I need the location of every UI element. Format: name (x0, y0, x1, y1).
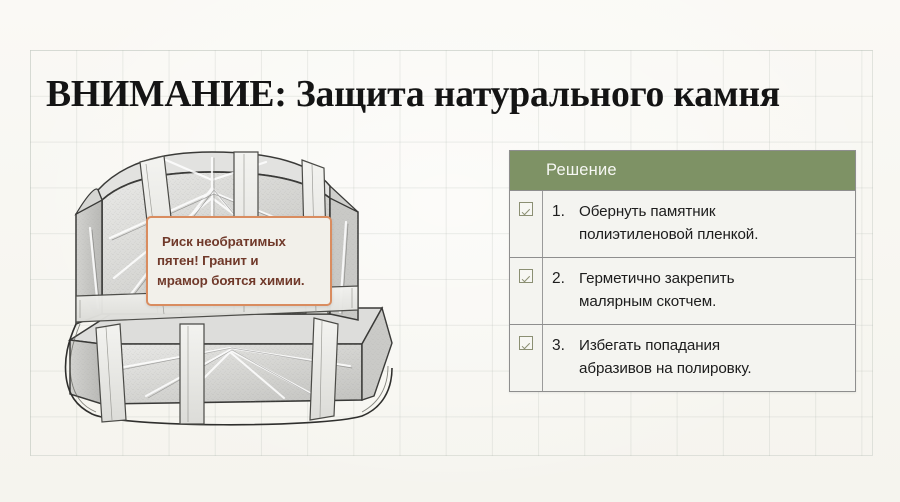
row-line-1: Герметично закрепить (579, 268, 734, 291)
checkbox-cell[interactable] (510, 191, 543, 257)
table-row[interactable]: 1. Обернуть памятник полиэтиленовой плен… (510, 191, 855, 258)
row-text: Герметично закрепить малярным скотчем. (579, 268, 734, 314)
warning-callout-text: Риск необратимых пятен! Гранит и мрамор … (148, 232, 330, 291)
slide-canvas: ВНИМАНИЕ: Защита натурального камня (0, 0, 900, 502)
checked-checkbox-icon[interactable] (519, 336, 533, 350)
table-text-cell: 3. Избегать попадания абразивов на полир… (543, 325, 855, 391)
solution-table: Решение 1. Обернуть памятник полиэтилено… (509, 150, 856, 392)
row-line-2: полиэтиленовой пленкой. (579, 224, 758, 247)
warning-callout: Риск необратимых пятен! Гранит и мрамор … (146, 216, 332, 306)
table-row[interactable]: 2. Герметично закрепить малярным скотчем… (510, 258, 855, 325)
table-header-label: Решение (546, 161, 617, 180)
table-row[interactable]: 3. Избегать попадания абразивов на полир… (510, 325, 855, 391)
row-text: Избегать попадания абразивов на полировк… (579, 335, 751, 381)
page-title: ВНИМАНИЕ: Защита натурального камня (46, 72, 780, 116)
callout-line-2: пятен! Гранит и (157, 251, 321, 271)
checkbox-cell[interactable] (510, 325, 543, 391)
row-line-2: абразивов на полировку. (579, 358, 751, 381)
row-line-2: малярным скотчем. (579, 291, 734, 314)
checked-checkbox-icon[interactable] (519, 202, 533, 216)
row-line-1: Обернуть памятник (579, 201, 758, 224)
row-text: Обернуть памятник полиэтиленовой пленкой… (579, 201, 758, 247)
row-number: 2. (552, 268, 579, 314)
checked-checkbox-icon[interactable] (519, 269, 533, 283)
row-line-1: Избегать попадания (579, 335, 751, 358)
row-number: 1. (552, 201, 579, 247)
checkbox-cell[interactable] (510, 258, 543, 324)
row-number: 3. (552, 335, 579, 381)
table-text-cell: 1. Обернуть памятник полиэтиленовой плен… (543, 191, 855, 257)
callout-line-3: мрамор боятся химии. (157, 271, 321, 291)
callout-line-1: Риск необратимых (157, 232, 321, 252)
table-text-cell: 2. Герметично закрепить малярным скотчем… (543, 258, 855, 324)
table-header: Решение (510, 151, 855, 191)
